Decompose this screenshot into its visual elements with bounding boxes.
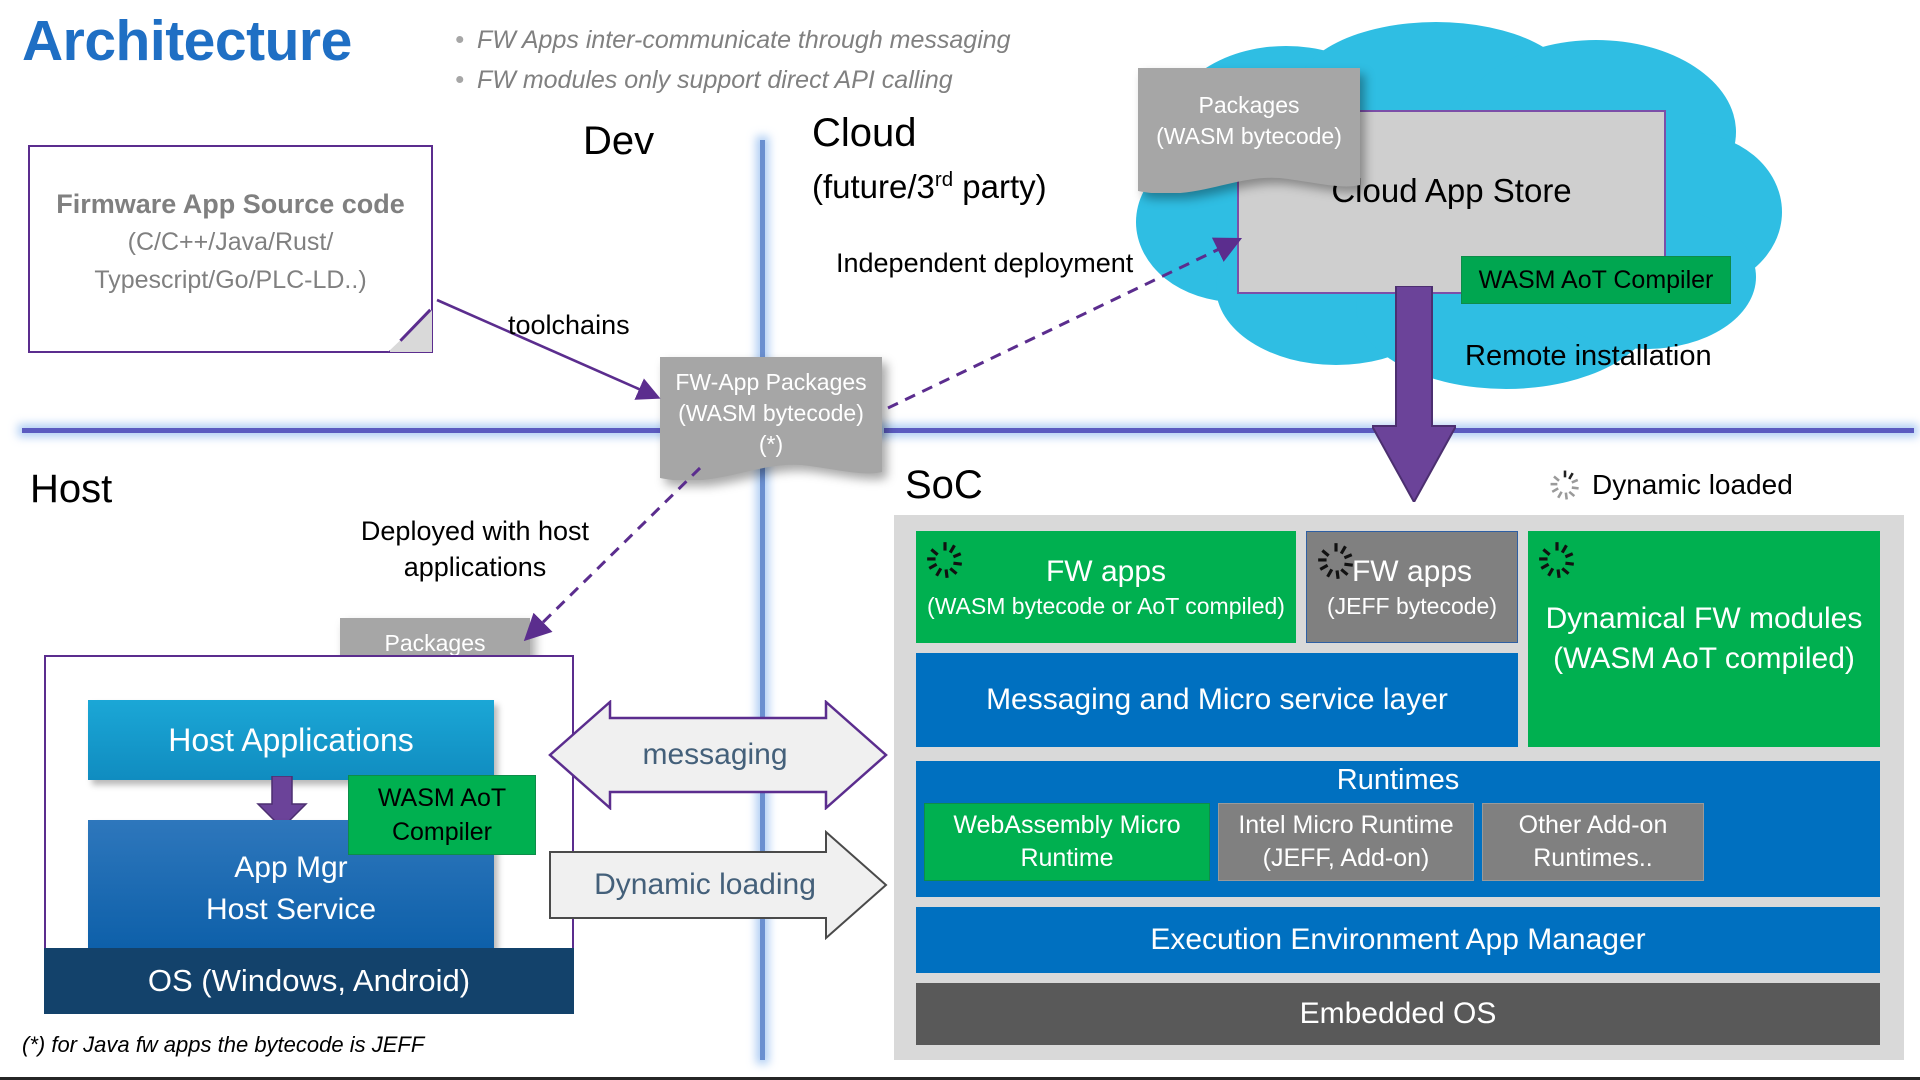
host-aot-line1: WASM AoT — [378, 781, 506, 815]
soc-embedded-os: Embedded OS — [916, 983, 1880, 1045]
host-os: OS (Windows, Android) — [44, 948, 574, 1014]
soc-container: FW apps (WASM bytecode or AoT compiled) … — [894, 515, 1904, 1060]
footnote: (*) for Java fw apps the bytecode is JEF… — [22, 1032, 424, 1058]
region-label-dev: Dev — [583, 118, 654, 164]
soc-runtime-wamr-line1: WebAssembly Micro — [953, 809, 1180, 842]
packages-note-fwapp-line2: (WASM bytecode) — [660, 398, 882, 429]
toolchains-label: toolchains — [508, 310, 630, 341]
note-wave-icon — [1138, 169, 1360, 193]
firmware-source-title: Firmware App Source code — [30, 185, 431, 223]
dynamic-loading-arrow: Dynamic loading — [548, 830, 888, 940]
region-sublabel-cloud: (future/3rd party) — [812, 160, 1047, 207]
deployed-with-host-label: Deployed with host applications — [360, 513, 590, 585]
firmware-source-code-box: Firmware App Source code (C/C++/Java/Rus… — [28, 145, 433, 353]
remote-installation-label: Remote installation — [1465, 340, 1712, 373]
firmware-source-langs-1: (C/C++/Java/Rust/ — [30, 223, 431, 261]
soc-runtime-other-line1: Other Add-on — [1519, 809, 1668, 842]
list-item: • FW modules only support direct API cal… — [455, 62, 1155, 98]
dynamic-loaded-spinner-icon — [1315, 540, 1357, 582]
independent-deployment-label: Independent deployment — [836, 248, 1133, 279]
packages-note-cloud: Packages (WASM bytecode) — [1138, 68, 1360, 172]
messaging-arrow-label: messaging — [548, 738, 888, 772]
soc-dyn-modules-sub: (WASM AoT compiled) — [1546, 639, 1863, 679]
soc-messaging-layer: Messaging and Micro service layer — [916, 653, 1518, 747]
soc-runtime-other-line2: Runtimes.. — [1519, 842, 1668, 875]
cloud-wasm-aot-compiler: WASM AoT Compiler — [1461, 256, 1731, 304]
soc-dynamical-fw-modules: Dynamical FW modules (WASM AoT compiled) — [1528, 531, 1880, 747]
host-applications: Host Applications — [88, 700, 494, 780]
soc-runtimes: Runtimes WebAssembly Micro Runtime Intel… — [916, 761, 1880, 897]
bullet-dot-icon: • — [455, 62, 477, 96]
dynamic-loaded-legend-label: Dynamic loaded — [1592, 469, 1793, 501]
firmware-source-langs-2: Typescript/Go/PLC-LD..) — [30, 261, 431, 299]
dynamic-loaded-spinner-icon — [924, 539, 966, 581]
soc-runtime-wamr-line2: Runtime — [953, 842, 1180, 875]
dynamic-loaded-spinner-icon — [1548, 468, 1582, 502]
soc-fw-apps-wasm-title: FW apps — [927, 553, 1285, 591]
soc-runtime-other-addon: Other Add-on Runtimes.. — [1482, 803, 1704, 881]
dynamic-loaded-legend: Dynamic loaded — [1548, 468, 1793, 502]
bullet-text: FW Apps inter-communicate through messag… — [477, 22, 1011, 58]
list-item: • FW Apps inter-communicate through mess… — [455, 22, 1155, 58]
dynamic-loaded-spinner-icon — [1536, 539, 1578, 581]
soc-execution-env-app-manager: Execution Environment App Manager — [916, 907, 1880, 973]
packages-note-cloud-line1: Packages — [1138, 90, 1360, 121]
bullet-text: FW modules only support direct API calli… — [477, 62, 953, 98]
region-label-soc: SoC — [905, 462, 983, 508]
bullet-list: • FW Apps inter-communicate through mess… — [455, 22, 1155, 102]
soc-runtime-intel-line2: (JEFF, Add-on) — [1238, 842, 1453, 875]
soc-runtimes-title: Runtimes — [916, 761, 1880, 797]
soc-fw-apps-wasm-sub: (WASM bytecode or AoT compiled) — [927, 591, 1285, 621]
soc-fw-apps-jeff: FW apps (JEFF bytecode) — [1306, 531, 1518, 643]
bullet-dot-icon: • — [455, 22, 477, 56]
soc-fw-apps-wasm: FW apps (WASM bytecode or AoT compiled) — [916, 531, 1296, 643]
remote-installation-arrow-icon — [1372, 286, 1456, 502]
soc-fw-apps-jeff-sub: (JEFF bytecode) — [1327, 591, 1497, 621]
soc-runtime-webassembly-micro: WebAssembly Micro Runtime — [924, 803, 1210, 881]
host-app-manager-line2: Host Service — [206, 889, 376, 931]
packages-note-fwapp-line3: (*) — [660, 429, 882, 460]
soc-dyn-modules-title: Dynamical FW modules — [1546, 599, 1863, 639]
packages-note-fwapp: FW-App Packages (WASM bytecode) (*) — [660, 357, 882, 459]
host-wasm-aot-compiler: WASM AoT Compiler — [348, 775, 536, 855]
soc-runtime-intel-line1: Intel Micro Runtime — [1238, 809, 1453, 842]
region-label-cloud: Cloud — [812, 110, 917, 156]
page-title: Architecture — [22, 8, 352, 74]
dynamic-loading-arrow-label: Dynamic loading — [548, 868, 888, 902]
messaging-arrow: messaging — [548, 700, 888, 810]
packages-note-cloud-line2: (WASM bytecode) — [1138, 121, 1360, 152]
host-aot-line2: Compiler — [378, 815, 506, 849]
region-label-host: Host — [30, 466, 112, 512]
soc-runtime-intel-micro: Intel Micro Runtime (JEFF, Add-on) — [1218, 803, 1474, 881]
packages-note-fwapp-line1: FW-App Packages — [660, 367, 882, 398]
